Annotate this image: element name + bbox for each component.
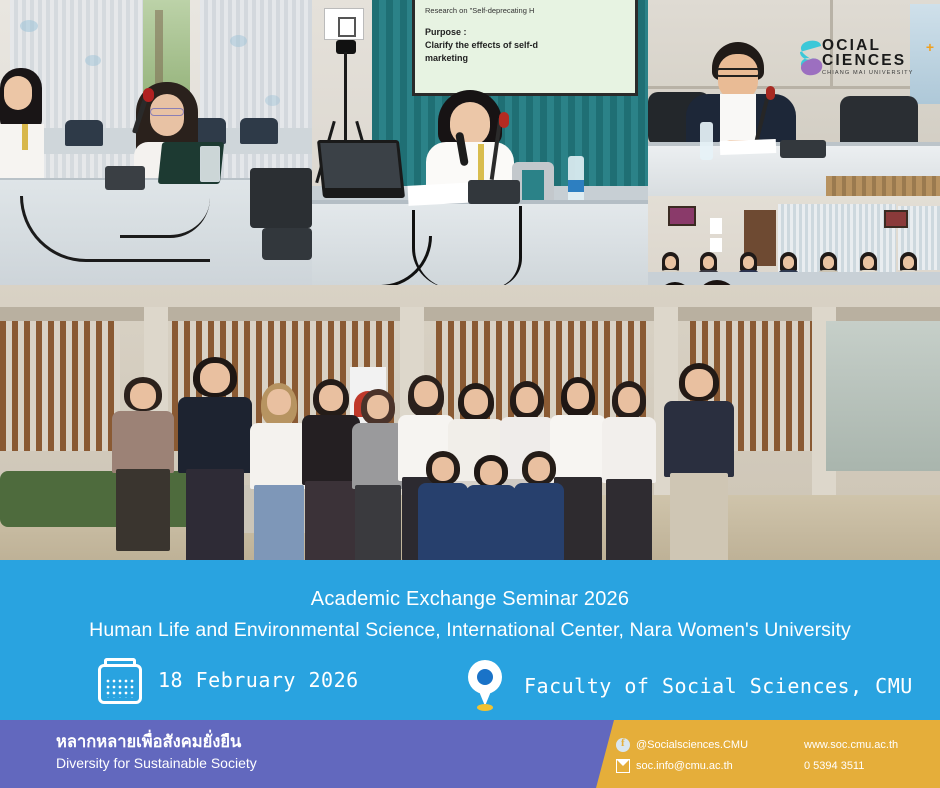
event-date: 18 February 2026 [96,656,359,704]
info-band: Academic Exchange Seminar 2026 Human Lif… [0,560,940,720]
photo-lecture-room-left [0,0,312,288]
slide-purpose-line2: marketing [425,53,468,63]
event-venue: Faculty of Social Sciences, CMU [468,660,913,712]
map-pin-icon [468,660,502,712]
footer-bar: หลากหลายเพื่อสังคมยั่งยืน Diversity for … [0,720,940,788]
group-person [178,357,252,563]
facebook-icon[interactable] [616,738,630,752]
seminar-subtitle: Human Life and Environmental Science, In… [0,619,940,642]
envelope-icon[interactable] [616,759,630,773]
facebook-handle[interactable]: @Socialsciences.CMU [636,739,804,751]
slide-purpose-label: Purpose : [425,27,467,37]
group-person [602,381,656,563]
event-date-label: 18 February 2026 [158,668,359,692]
logo-plus-icon: + [926,39,934,55]
phone-number: 0 5394 3511 [804,760,864,772]
photo-collage: Research on "Self-deprecating H Purpose … [0,0,940,565]
email-address[interactable]: soc.info@cmu.ac.th [636,760,804,772]
photo-presenter-center: Research on "Self-deprecating H Purpose … [312,0,648,288]
projection-screen: Research on "Self-deprecating H Purpose … [412,0,638,96]
slide-purpose-line1: Clarify the effects of self-d [425,40,538,50]
group-person [352,389,404,563]
social-sciences-logo: OCIAL CIENCES CHIANG MAI UNIVERSITY + [794,38,926,82]
logo-line-2: CIENCES [822,53,930,69]
slide-heading: Research on "Self-deprecating H [425,6,629,15]
seminar-title: Academic Exchange Seminar 2026 [0,588,940,611]
group-person [250,383,308,563]
group-person [418,451,468,563]
website-url[interactable]: www.soc.cmu.ac.th [804,739,898,751]
photo-chairman-right [648,0,940,196]
photo-group-outdoor [0,285,940,565]
contact-info: @Socialsciences.CMU www.soc.cmu.ac.th so… [616,734,936,776]
group-person [514,451,564,563]
event-meta: 18 February 2026 Faculty of Social Scien… [0,656,940,720]
slogan-english: Diversity for Sustainable Society [56,753,257,773]
group-person [664,363,734,563]
faculty-slogan: หลากหลายเพื่อสังคมยั่งยืน Diversity for … [56,732,257,773]
logo-subtitle: CHIANG MAI UNIVERSITY [822,69,930,77]
event-venue-label: Faculty of Social Sciences, CMU [524,674,913,698]
group-person [112,377,174,563]
contact-row-2: soc.info@cmu.ac.th 0 5394 3511 [616,755,936,776]
slogan-thai: หลากหลายเพื่อสังคมยั่งยืน [56,732,257,753]
seminar-poster: Research on "Self-deprecating H Purpose … [0,0,940,788]
contact-row-1: @Socialsciences.CMU www.soc.cmu.ac.th [616,734,936,755]
logo-line-1: OCIAL [822,38,930,53]
group-person [466,455,516,563]
calendar-icon [96,656,144,704]
